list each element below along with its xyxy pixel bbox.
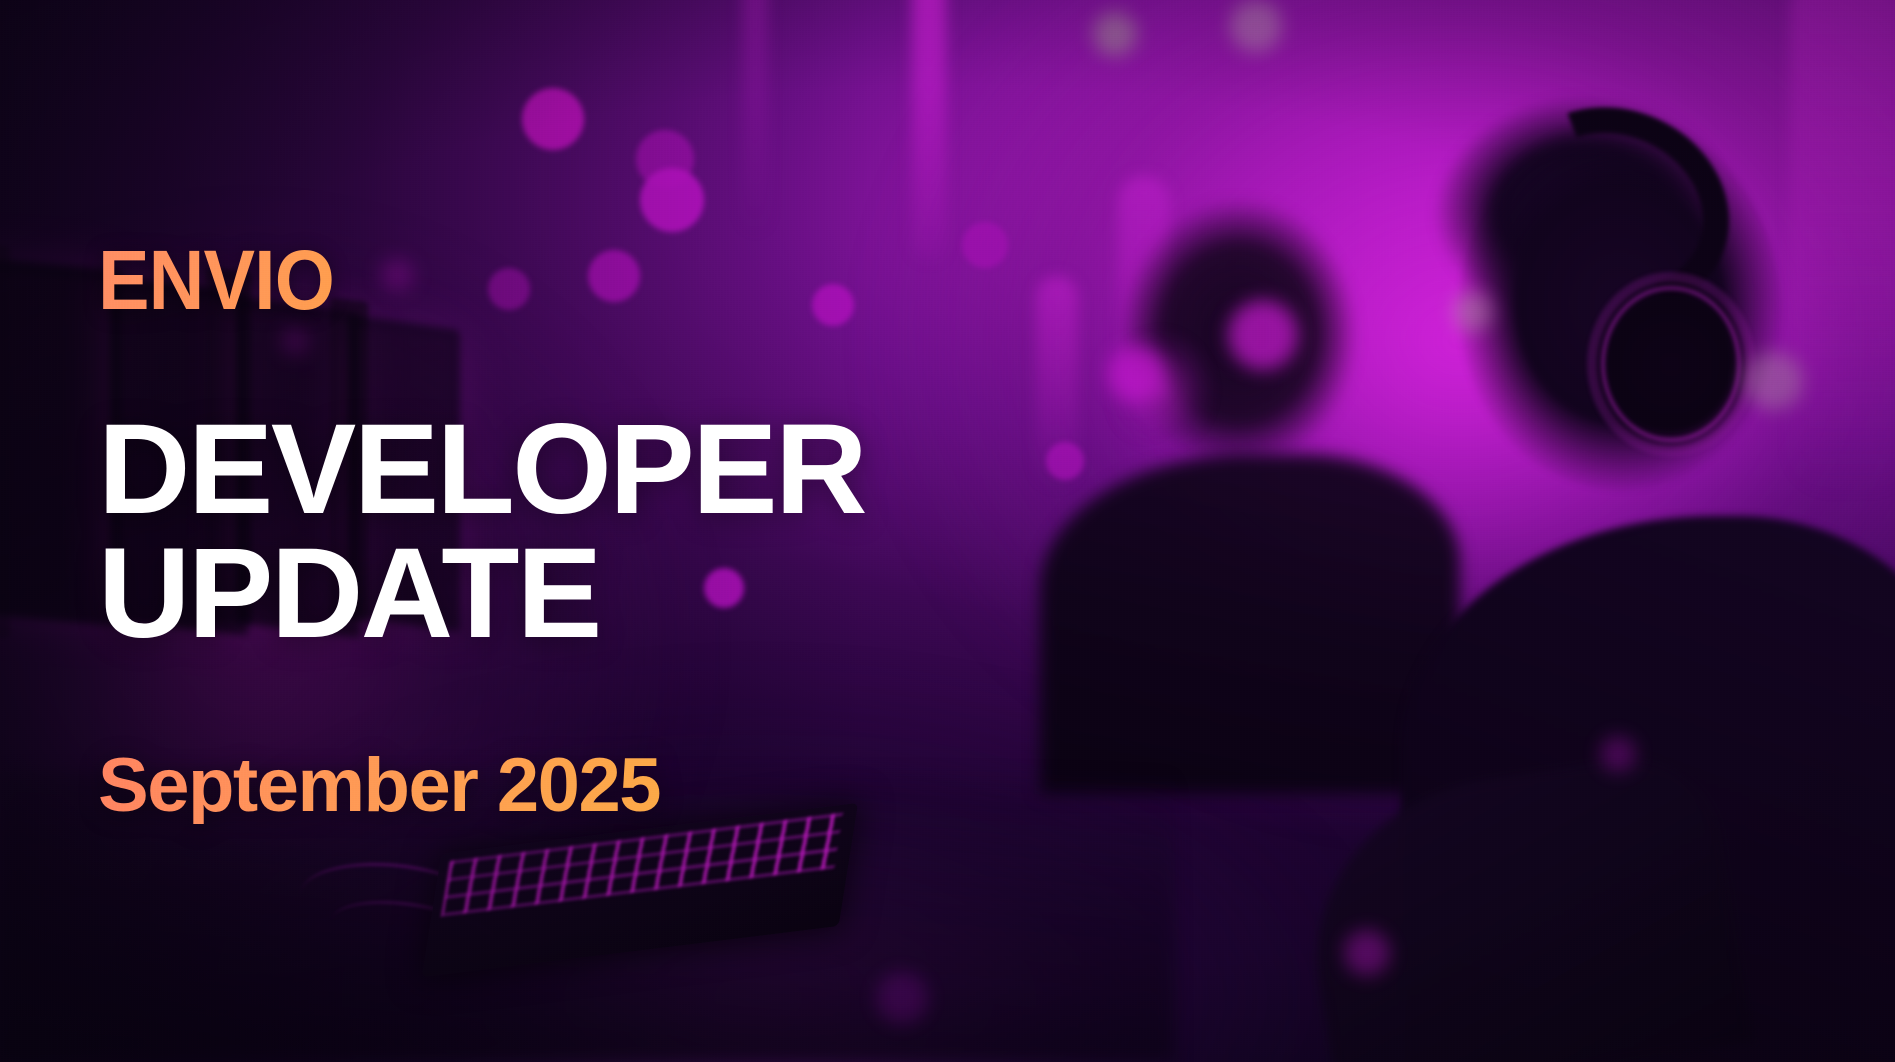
- page-title-line-1: DEVELOPER: [98, 408, 958, 532]
- page-title-line-2: UPDATE: [98, 532, 958, 656]
- banner-content: ENVIO DEVELOPER UPDATE September 2025: [98, 0, 958, 1062]
- developer-update-banner: ENVIO DEVELOPER UPDATE September 2025: [0, 0, 1895, 1062]
- envio-logo-wordmark: ENVIO: [98, 238, 889, 322]
- page-title: DEVELOPER UPDATE: [98, 408, 958, 656]
- issue-date: September 2025: [98, 748, 958, 824]
